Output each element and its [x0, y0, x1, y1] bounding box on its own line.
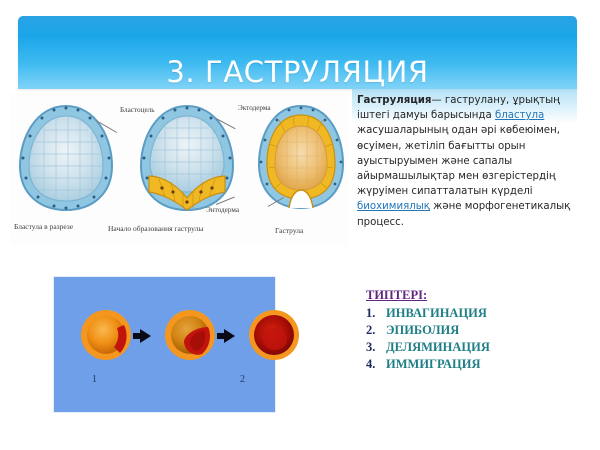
type-label-delamination: ДЕЛЯМИНАЦИЯ: [386, 339, 490, 356]
label-blastocoel: Бластоцель: [120, 106, 155, 114]
stage-number-1: 1: [92, 374, 97, 385]
gastrulation-description: Гаструляция— гаструлану, ұрықтың iштегi …: [357, 93, 595, 230]
list-item: 3. ДЕЛЯМИНАЦИЯ: [366, 339, 490, 356]
gastrula-illustration: [255, 102, 347, 214]
arrow-1: [140, 329, 151, 343]
embryo-stage-1: [80, 309, 132, 361]
types-heading: ТИПТЕРІ:: [366, 288, 490, 303]
list-item: 4. ИММИГРАЦИЯ: [366, 356, 490, 373]
type-label-invagination: ИНВАГИНАЦИЯ: [386, 305, 487, 322]
stage-number-2: 2: [240, 374, 245, 385]
type-label-epiboly: ЭПИБОЛИЯ: [386, 322, 459, 339]
type-number: 4.: [366, 356, 386, 373]
embryo-stage-2: [164, 309, 216, 361]
gastrula-forming-illustration: [135, 102, 239, 214]
label-endoderm: Энтодерма: [206, 206, 239, 214]
type-number: 3.: [366, 339, 386, 356]
link-biochemical[interactable]: биохимиялық: [357, 201, 430, 212]
type-label-immigration: ИММИГРАЦИЯ: [386, 356, 481, 373]
caption-blastula-section: Бластула в разрезе: [14, 222, 73, 231]
arrow-2: [224, 329, 235, 343]
invagination-sequence-panel: 1 2: [54, 277, 275, 412]
type-number: 1.: [366, 305, 386, 322]
page-title: 3. ГАСТРУЛЯЦИЯ: [18, 58, 577, 87]
description-text-2: жасушаларының одан әрi көбеюiмен, өсуiме…: [357, 125, 560, 197]
description-term: Гаструляция: [357, 95, 431, 106]
gastrulation-diagram: Бластоцель Эктодерма Энтодерма Бластула …: [10, 94, 348, 245]
list-item: 2. ЭПИБОЛИЯ: [366, 322, 490, 339]
list-item: 1. ИНВАГИНАЦИЯ: [366, 305, 490, 322]
type-number: 2.: [366, 322, 386, 339]
caption-gastrula-start: Начало образования гаструлы: [108, 224, 203, 233]
blastula-illustration: [14, 102, 118, 214]
embryo-stage-3: [248, 309, 300, 361]
title-banner: 3. ГАСТРУЛЯЦИЯ: [18, 16, 577, 89]
caption-gastrula: Гаструла: [275, 226, 303, 235]
label-ectoderm: Эктодерма: [238, 104, 271, 112]
gastrulation-types-block: ТИПТЕРІ: 1. ИНВАГИНАЦИЯ 2. ЭПИБОЛИЯ 3. Д…: [366, 288, 490, 373]
link-blastula[interactable]: бластула: [495, 110, 544, 121]
description-dash: —: [431, 95, 441, 106]
